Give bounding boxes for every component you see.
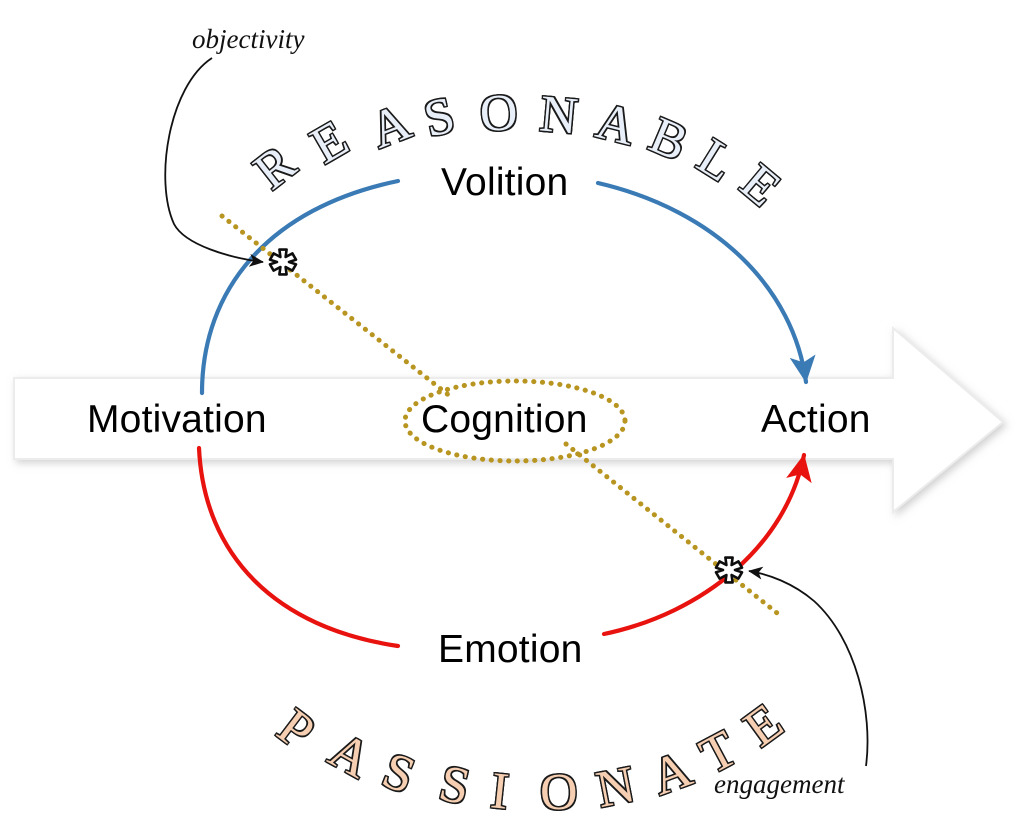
asterisk-marker-bottom xyxy=(716,558,742,583)
node-label-action: Action xyxy=(761,400,871,439)
annotation-label-objectivity: objectivity xyxy=(192,26,304,53)
cognition-dotted-line-lower xyxy=(566,444,782,617)
cognition-dotted-line-upper xyxy=(222,216,451,397)
node-label-motivation: Motivation xyxy=(87,400,267,439)
asterisk-marker-top xyxy=(270,250,296,275)
engagement-leader-arrow xyxy=(749,571,868,766)
volition-arc-right xyxy=(598,183,806,382)
volition-arc-left xyxy=(202,181,398,393)
emotion-arc-left xyxy=(199,448,398,646)
objectivity-leader-arrow xyxy=(165,58,263,262)
node-label-emotion: Emotion xyxy=(438,630,582,669)
node-label-cognition: Cognition xyxy=(421,400,588,439)
node-label-volition: Volition xyxy=(441,163,568,202)
annotation-label-engagement: engagement xyxy=(714,771,844,798)
diagram-canvas: REASONABLE PASSIONATE Motivation Cogniti… xyxy=(0,0,1015,832)
emotion-arc-right xyxy=(604,455,804,634)
